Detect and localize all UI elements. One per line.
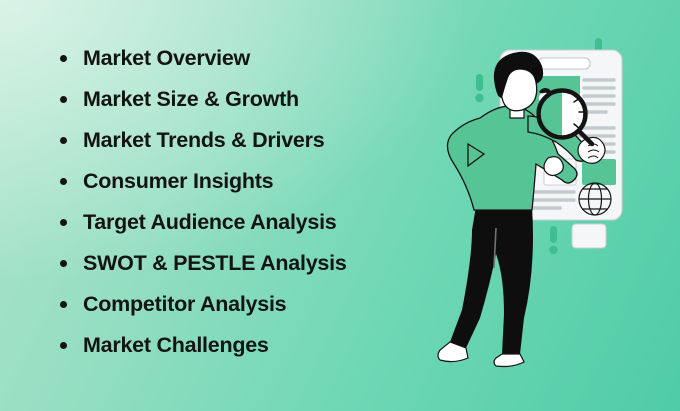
list-item: Market Trends & Drivers (60, 120, 450, 161)
list-item: Target Audience Analysis (60, 202, 450, 243)
list-item-label: Competitor Analysis (83, 294, 286, 316)
list-item-label: Market Size & Growth (83, 89, 299, 111)
list-item-label: Market Challenges (83, 335, 269, 357)
list-item: Competitor Analysis (60, 284, 450, 325)
list-item-label: SWOT & PESTLE Analysis (83, 253, 347, 275)
list-item-label: Market Overview (83, 48, 250, 70)
bullet-icon (60, 260, 67, 267)
small-card (572, 224, 606, 248)
list-item: SWOT & PESTLE Analysis (60, 243, 450, 284)
bullet-icon (60, 219, 67, 226)
bullet-icon (60, 342, 67, 349)
list-item: Market Challenges (60, 325, 450, 366)
list-item-label: Target Audience Analysis (83, 212, 336, 234)
bullet-icon (60, 96, 67, 103)
list-item-label: Market Trends & Drivers (83, 130, 324, 152)
list-item: Market Size & Growth (60, 79, 450, 120)
hand (544, 157, 563, 176)
illustration-person-inspecting-report (424, 18, 680, 411)
list-item: Market Overview (60, 38, 450, 79)
topic-list: Market Overview Market Size & Growth Mar… (60, 38, 450, 366)
trousers (450, 206, 533, 354)
list-item-label: Consumer Insights (83, 171, 273, 193)
list-item: Consumer Insights (60, 161, 450, 202)
exclamation-mark-icon (475, 74, 483, 102)
slide-canvas: Market Overview Market Size & Growth Mar… (0, 0, 680, 411)
bullet-icon (60, 301, 67, 308)
exclamation-mark-icon (549, 226, 557, 254)
bullet-icon (60, 55, 67, 62)
bullet-icon (60, 137, 67, 144)
shoe (494, 354, 524, 367)
bullet-icon (60, 178, 67, 185)
